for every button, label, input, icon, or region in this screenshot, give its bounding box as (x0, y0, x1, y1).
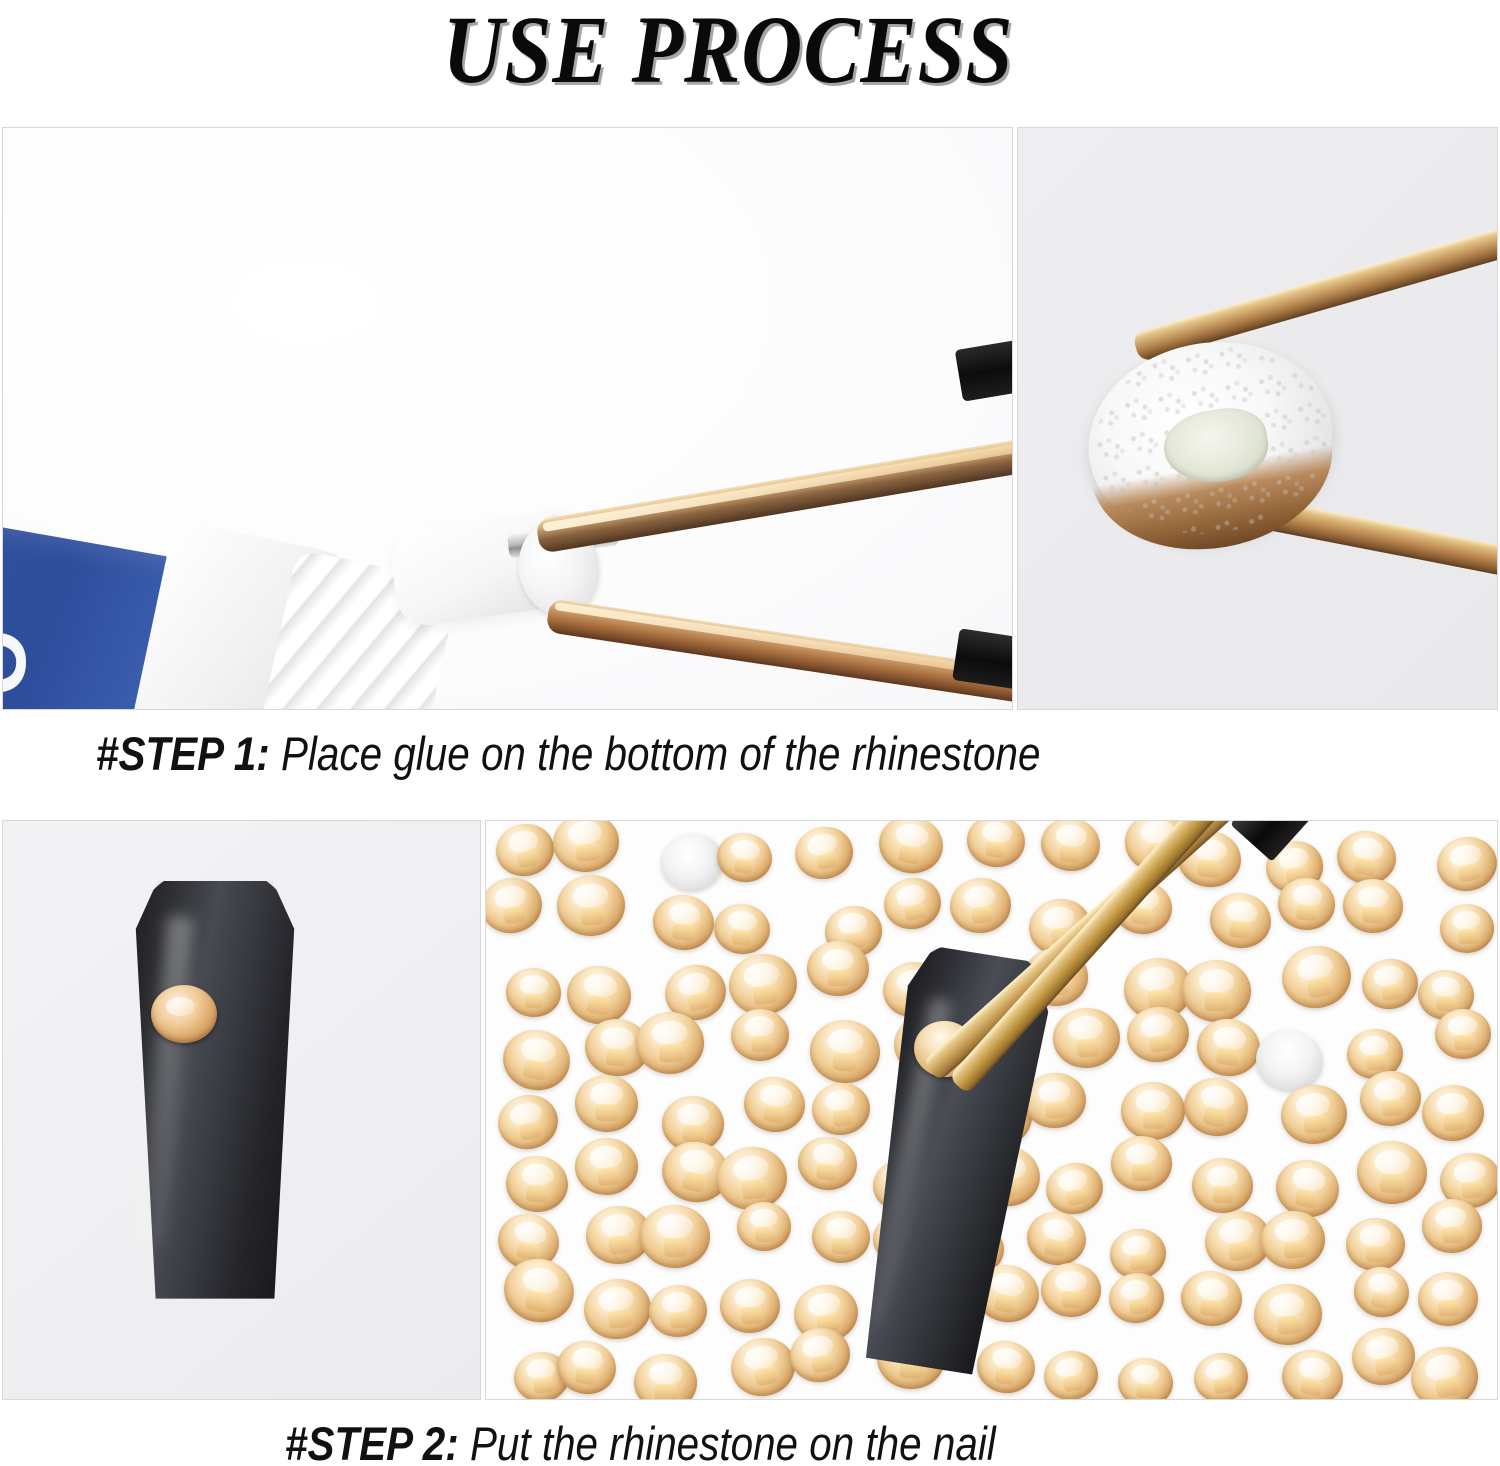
step-2-label: #STEP 2: (285, 1417, 459, 1466)
page-title: USE PROCESS (68, 0, 1388, 104)
use-process-infographic: USE PROCESS O H #STEP 1: Place glue on t… (0, 0, 1500, 1466)
rhinestone (807, 940, 869, 996)
step1-image-right (1017, 127, 1498, 710)
step-2-caption: #STEP 2: Put the rhinestone on the nail (285, 1416, 996, 1466)
step1-image-left: O H (2, 127, 1013, 710)
rhinestone (736, 1201, 791, 1250)
rhinestone (1111, 1136, 1172, 1191)
rhinestone-on-nail (151, 985, 217, 1043)
step-2-text: Put the rhinestone on the nail (459, 1417, 996, 1466)
rhinestone (1121, 1081, 1186, 1139)
step-1-caption: #STEP 1: Place glue on the bottom of the… (96, 726, 1040, 781)
step-1-label: #STEP 1: (96, 727, 270, 780)
glue-label-letter: O (2, 627, 45, 697)
rhinestone (1192, 1158, 1253, 1213)
step-1-text: Place glue on the bottom of the rhinesto… (270, 727, 1041, 780)
step2-image-left (2, 820, 481, 1400)
step2-image-right (485, 820, 1498, 1400)
